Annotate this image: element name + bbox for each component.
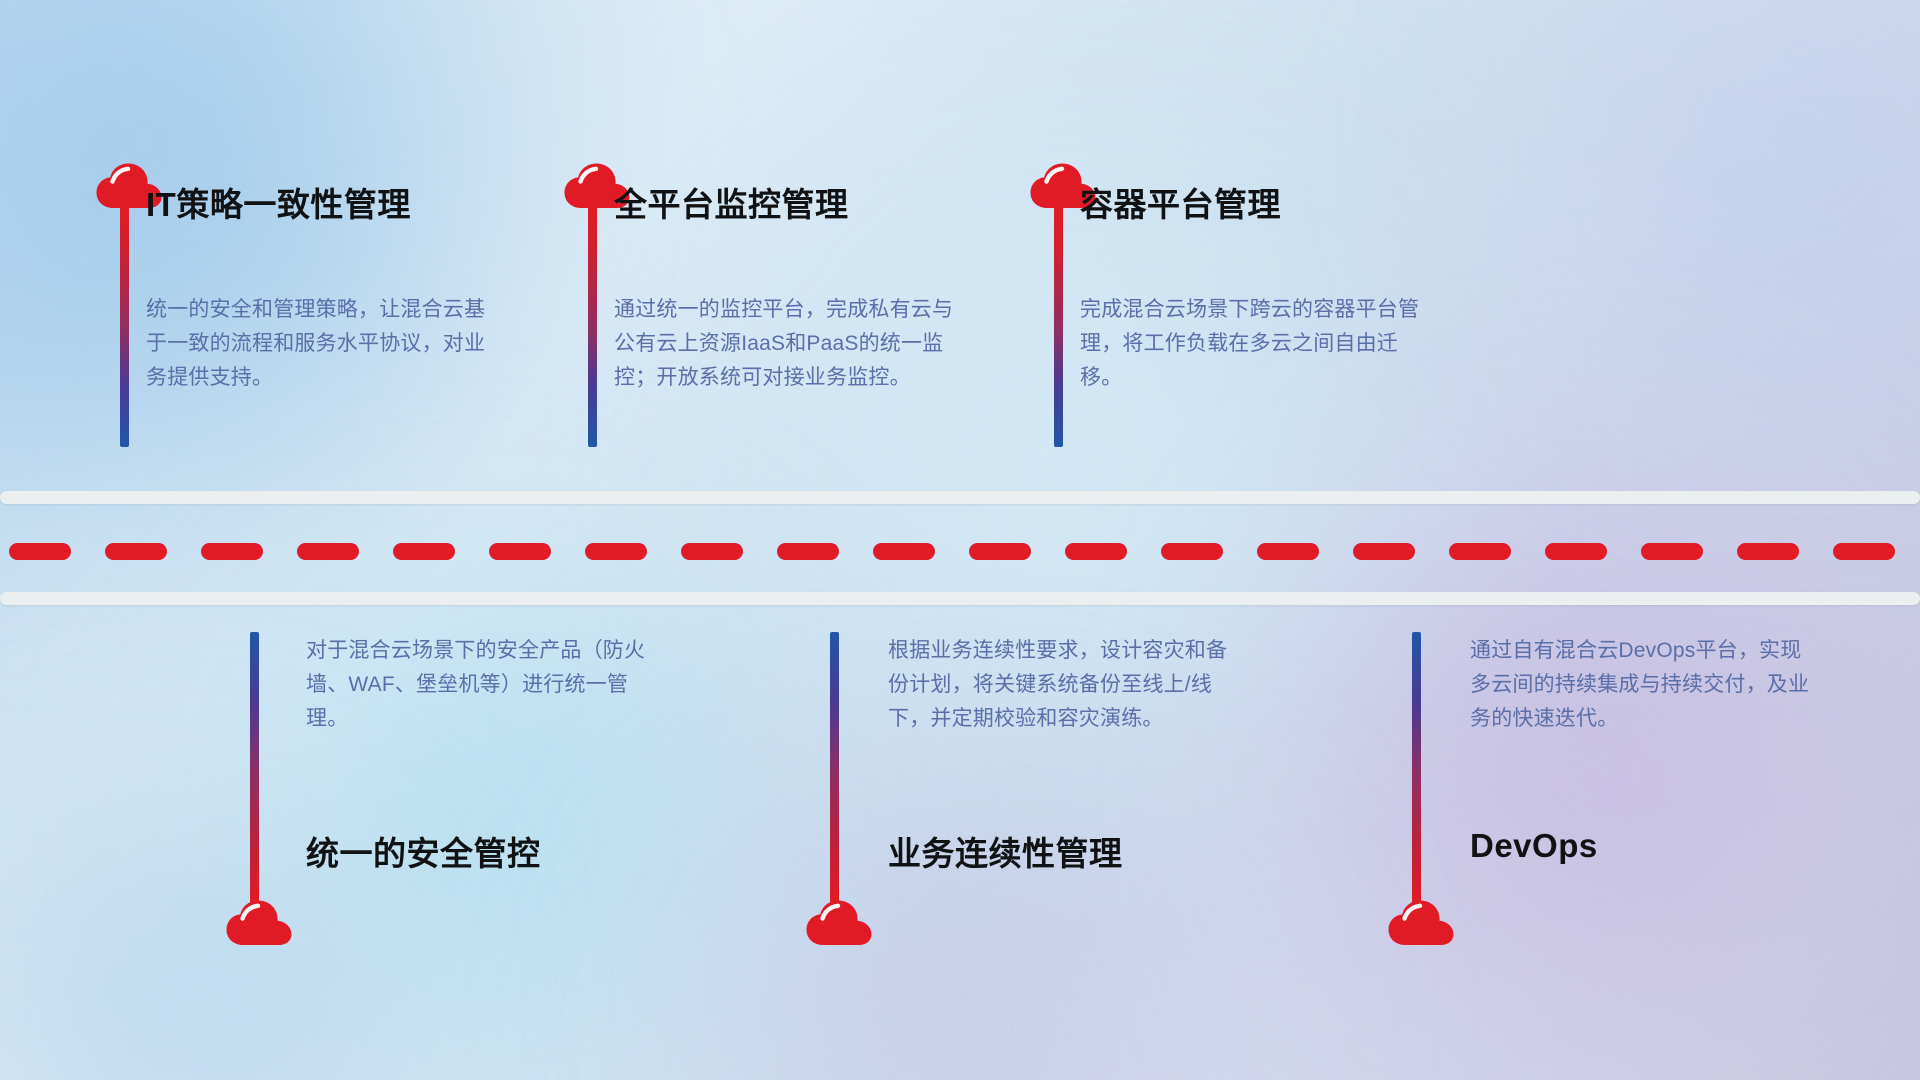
pin-title: 业务连续性管理 [888,827,1123,875]
road-dash-segment [777,543,839,560]
road-dash-segment [1065,543,1127,560]
pin-title: 全平台监控管理 [614,178,849,226]
pin-title: DevOps [1470,827,1598,865]
road-dash-segment [1257,543,1319,560]
pin-stem [1412,632,1421,904]
pin-stem [1054,205,1063,447]
pin-stem [250,632,259,904]
pin-description: 统一的安全和管理策略，让混合云基于一致的流程和服务水平协议，对业务提供支持。 [146,293,494,395]
cloud-icon [806,900,872,946]
pin-title: 容器平台管理 [1080,178,1281,226]
pin-description: 通过统一的监控平台，完成私有云与公有云上资源IaaS和PaaS的统一监控；开放系… [614,293,962,395]
pin-title: IT策略一致性管理 [146,178,411,226]
road-dash-segment [585,543,647,560]
cloud-icon [1388,900,1454,946]
road-dash-segment [1449,543,1511,560]
road-dash-segment [393,543,455,560]
road-dash-segment [489,543,551,560]
pin-description: 通过自有混合云DevOps平台，实现多云间的持续集成与持续交付，及业务的快速迭代… [1470,634,1815,736]
pin-stem [830,632,839,904]
pin-description: 对于混合云场景下的安全产品（防火墙、WAF、堡垒机等）进行统一管理。 [306,634,656,736]
road-dash-segment [1833,543,1895,560]
road-dash-segment [1353,543,1415,560]
road-dash-segment [9,543,71,560]
road-dash-segment [1545,543,1607,560]
road-dash-segment [873,543,935,560]
road-center-dashed-line [0,543,1920,560]
road-dash-segment [681,543,743,560]
road-dash-segment [1161,543,1223,560]
pin-title: 统一的安全管控 [306,827,541,875]
road-dash-segment [297,543,359,560]
pin-description: 根据业务连续性要求，设计容灾和备份计划，将关键系统备份至线上/线下，并定期校验和… [888,634,1238,736]
pin-stem [120,205,129,447]
road-dash-segment [201,543,263,560]
pin-stem [588,205,597,447]
infographic-canvas: IT策略一致性管理 统一的安全和管理策略，让混合云基于一致的流程和服务水平协议，… [0,0,1920,1080]
road-dash-segment [105,543,167,560]
road-dash-segment [1737,543,1799,560]
road-edge-line-bottom [0,592,1920,605]
road-edge-line-top [0,491,1920,504]
cloud-icon [226,900,292,946]
road-dash-segment [969,543,1031,560]
pin-description: 完成混合云场景下跨云的容器平台管理，将工作负载在多云之间自由迁移。 [1080,293,1432,395]
road-dash-segment [1641,543,1703,560]
